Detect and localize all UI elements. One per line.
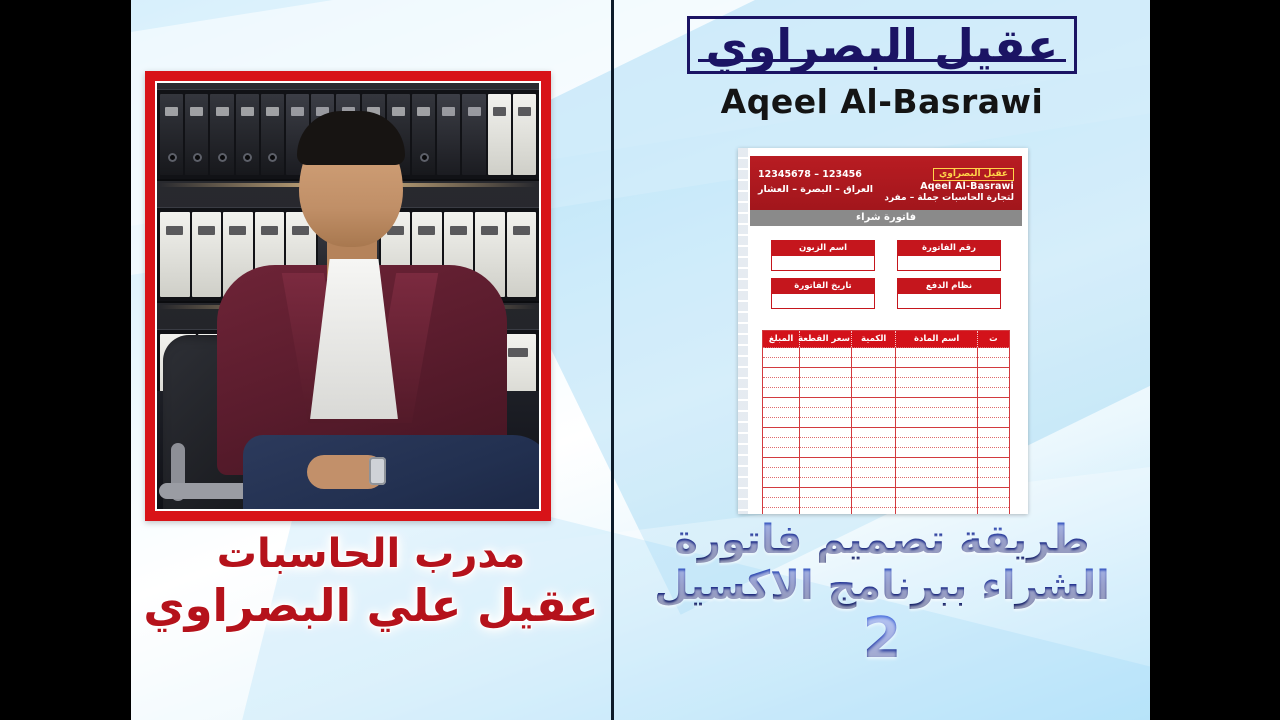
video-title: طريقة تصميم فاتورة الشراء ببرنامج الاكسي… <box>614 518 1150 667</box>
invoice-table-cell[interactable] <box>851 428 895 438</box>
invoice-table-cell[interactable] <box>977 478 1009 488</box>
invoice-number-label: رقم الفاتورة <box>897 240 1001 256</box>
letterbox-left <box>0 0 131 720</box>
invoice-title-bar: فاتورة شراء <box>750 210 1022 226</box>
invoice-table-cell[interactable] <box>977 418 1009 428</box>
invoice-table-cell[interactable] <box>977 358 1009 368</box>
invoice-table-cell[interactable] <box>800 388 852 398</box>
invoice-table-cell[interactable] <box>800 408 852 418</box>
invoice-table-cell[interactable] <box>763 408 800 418</box>
invoice-table-cell[interactable] <box>763 378 800 388</box>
invoice-table-cell[interactable] <box>800 488 852 498</box>
invoice-table-cell[interactable] <box>896 388 978 398</box>
invoice-table-cell[interactable] <box>977 348 1009 358</box>
presenter-photo-frame <box>145 71 551 521</box>
invoice-table-cell[interactable] <box>977 468 1009 478</box>
invoice-table-cell[interactable] <box>763 508 800 514</box>
invoice-table-row <box>763 498 1010 508</box>
invoice-table-cell[interactable] <box>763 488 800 498</box>
customer-name-label: اسم الزبون <box>771 240 875 256</box>
invoice-table-cell[interactable] <box>896 398 978 408</box>
invoice-table-body <box>763 348 1010 514</box>
invoice-table-cell[interactable] <box>896 428 978 438</box>
invoice-table-row <box>763 388 1010 398</box>
invoice-table-cell[interactable] <box>851 488 895 498</box>
invoice-table-cell[interactable] <box>800 458 852 468</box>
invoice-table-cell[interactable] <box>800 468 852 478</box>
col-header-index: ت <box>977 331 1009 348</box>
invoice-brand: عقيل البصراوي Aqeel Al-Basrawi لتجارة ال… <box>884 161 1014 204</box>
wristwatch <box>369 457 386 485</box>
invoice-meta-fields: رقم الفاتورة نظام الدفع اسم الزبون <box>750 240 1022 316</box>
invoice-table-cell[interactable] <box>763 348 800 358</box>
invoice-table-row <box>763 488 1010 498</box>
invoice-table-cell[interactable] <box>851 358 895 368</box>
invoice-table-cell[interactable] <box>977 408 1009 418</box>
invoice-table-row <box>763 418 1010 428</box>
invoice-contact: 12345678 – 123456 العراق – البصرة – العش… <box>758 168 873 197</box>
invoice-table-cell[interactable] <box>896 458 978 468</box>
invoice-table-row <box>763 468 1010 478</box>
invoice-table-row <box>763 508 1010 514</box>
invoice-table-cell[interactable] <box>800 428 852 438</box>
invoice-table-cell[interactable] <box>763 468 800 478</box>
invoice-meta-column-left: رقم الفاتورة نظام الدفع <box>897 240 1001 316</box>
payment-method-label: نظام الدفع <box>897 278 1001 294</box>
invoice-table-cell[interactable] <box>896 498 978 508</box>
invoice-table-cell[interactable] <box>851 468 895 478</box>
presenter-caption: مدرب الحاسبات عقيل علي البصراوي <box>131 532 611 631</box>
logo-underline <box>698 59 1067 62</box>
invoice-date-input[interactable] <box>771 294 875 309</box>
invoice-table-cell[interactable] <box>800 498 852 508</box>
invoice-table-cell[interactable] <box>896 438 978 448</box>
invoice-date-label: تاريخ الفاتورة <box>771 278 875 294</box>
invoice-table-cell[interactable] <box>977 448 1009 458</box>
invoice-table-row <box>763 368 1010 378</box>
invoice-table-row <box>763 408 1010 418</box>
invoice-table-cell[interactable] <box>977 508 1009 514</box>
invoice-header: عقيل البصراوي Aqeel Al-Basrawi لتجارة ال… <box>750 156 1022 210</box>
invoice-table-cell[interactable] <box>977 428 1009 438</box>
presenter-photo <box>155 81 541 511</box>
invoice-table-cell[interactable] <box>851 368 895 378</box>
invoice-table-cell[interactable] <box>896 358 978 368</box>
invoice-phone: 12345678 – 123456 <box>758 168 873 182</box>
slide-canvas: مدرب الحاسبات عقيل علي البصراوي عقيل الب… <box>131 0 1150 720</box>
invoice-table-cell[interactable] <box>977 378 1009 388</box>
invoice-brand-latin: Aqeel Al-Basrawi <box>884 181 1014 193</box>
invoice-table-cell[interactable] <box>800 448 852 458</box>
invoice-table-cell[interactable] <box>851 408 895 418</box>
invoice-table-cell[interactable] <box>763 438 800 448</box>
invoice-brand-subtitle: لتجارة الحاسبات جملة – مفرد <box>884 193 1014 204</box>
invoice-table-cell[interactable] <box>851 388 895 398</box>
invoice-table-cell[interactable] <box>763 428 800 438</box>
invoice-table-cell[interactable] <box>896 368 978 378</box>
invoice-table-cell[interactable] <box>763 368 800 378</box>
invoice-table-cell[interactable] <box>763 448 800 458</box>
presenter-name: عقيل علي البصراوي <box>131 581 611 631</box>
logo-arabic-text: عقيل البصراوي <box>706 23 1059 69</box>
invoice-table-cell[interactable] <box>763 358 800 368</box>
logo-latin-text: Aqeel Al-Basrawi <box>614 82 1150 121</box>
invoice-table-cell[interactable] <box>896 418 978 428</box>
invoice-table-cell[interactable] <box>800 418 852 428</box>
left-panel: مدرب الحاسبات عقيل علي البصراوي <box>131 0 611 720</box>
invoice-table-cell[interactable] <box>977 368 1009 378</box>
person-legs <box>243 435 541 511</box>
invoice-table-cell[interactable] <box>851 508 895 514</box>
invoice-items-table: ت اسم المادة الكمية سعر القطعة المبلغ <box>762 330 1010 514</box>
col-header-amount: المبلغ <box>763 331 800 348</box>
video-frame: مدرب الحاسبات عقيل علي البصراوي عقيل الب… <box>0 0 1280 720</box>
invoice-table-cell[interactable] <box>800 398 852 408</box>
invoice-date-field: تاريخ الفاتورة <box>771 278 875 309</box>
invoice-table-cell[interactable] <box>851 498 895 508</box>
invoice-table-cell[interactable] <box>851 458 895 468</box>
logo-arabic-mark: عقيل البصراوي <box>687 16 1078 74</box>
col-header-quantity: الكمية <box>851 331 895 348</box>
invoice-table-cell[interactable] <box>851 448 895 458</box>
invoice-table-cell[interactable] <box>977 498 1009 508</box>
invoice-table-row <box>763 358 1010 368</box>
invoice-table-cell[interactable] <box>851 378 895 388</box>
invoice-table-cell[interactable] <box>851 478 895 488</box>
invoice-address: العراق – البصرة – العشار <box>758 183 873 197</box>
invoice-table-cell[interactable] <box>851 438 895 448</box>
invoice-table-cell[interactable] <box>763 498 800 508</box>
invoice-table-cell[interactable] <box>800 478 852 488</box>
invoice-table-cell[interactable] <box>896 508 978 514</box>
invoice-table-row <box>763 428 1010 438</box>
panel-divider <box>611 0 614 720</box>
invoice-table-row <box>763 438 1010 448</box>
invoice-meta-column-right: اسم الزبون تاريخ الفاتورة <box>771 240 875 316</box>
invoice-table-row <box>763 448 1010 458</box>
invoice-table-cell[interactable] <box>851 418 895 428</box>
invoice-table-cell[interactable] <box>800 358 852 368</box>
invoice-table-cell[interactable] <box>977 438 1009 448</box>
invoice-table-cell[interactable] <box>763 398 800 408</box>
invoice-number-input[interactable] <box>897 256 1001 271</box>
invoice-table-cell[interactable] <box>896 468 978 478</box>
excel-invoice-sheet: عقيل البصراوي Aqeel Al-Basrawi لتجارة ال… <box>738 148 1028 514</box>
right-panel: عقيل البصراوي Aqeel Al-Basrawi عقيل البص… <box>614 0 1150 720</box>
invoice-brand-arabic-logo: عقيل البصراوي <box>933 168 1014 181</box>
invoice-table-cell[interactable] <box>977 488 1009 498</box>
customer-name-field: اسم الزبون <box>771 240 875 271</box>
invoice-table-cell[interactable] <box>800 348 852 358</box>
invoice-table-row <box>763 348 1010 358</box>
invoice-table-row <box>763 378 1010 388</box>
invoice-table-cell[interactable] <box>896 348 978 358</box>
invoice-table-cell[interactable] <box>763 458 800 468</box>
invoice-table-row <box>763 458 1010 468</box>
invoice-table-cell[interactable] <box>800 368 852 378</box>
invoice-table-cell[interactable] <box>800 378 852 388</box>
invoice-table-cell[interactable] <box>763 478 800 488</box>
payment-method-input[interactable] <box>897 294 1001 309</box>
col-header-unit-price: سعر القطعة <box>800 331 852 348</box>
title-line-1: طريقة تصميم فاتورة <box>614 518 1150 564</box>
invoice-table-header-row: ت اسم المادة الكمية سعر القطعة المبلغ <box>763 331 1010 348</box>
col-header-item-name: اسم المادة <box>896 331 978 348</box>
invoice-number-field: رقم الفاتورة <box>897 240 1001 271</box>
payment-method-field: نظام الدفع <box>897 278 1001 309</box>
customer-name-input[interactable] <box>771 256 875 271</box>
presenter-role: مدرب الحاسبات <box>131 532 611 577</box>
invoice-table-cell[interactable] <box>896 378 978 388</box>
title-line-2: الشراء ببرنامج الاكسيل <box>614 564 1150 610</box>
episode-number: 2 <box>614 611 1150 667</box>
invoice-table-cell[interactable] <box>977 398 1009 408</box>
invoice-table-cell[interactable] <box>851 398 895 408</box>
invoice-table-cell[interactable] <box>896 408 978 418</box>
invoice-table-cell[interactable] <box>851 348 895 358</box>
invoice-table-cell[interactable] <box>896 478 978 488</box>
invoice-table-cell[interactable] <box>896 488 978 498</box>
letterbox-right <box>1150 0 1280 720</box>
invoice-table-cell[interactable] <box>977 388 1009 398</box>
invoice-table-cell[interactable] <box>977 458 1009 468</box>
excel-row-gutter <box>738 148 748 514</box>
invoice-table-cell[interactable] <box>896 448 978 458</box>
invoice-table-cell[interactable] <box>800 508 852 514</box>
invoice-table-cell[interactable] <box>800 438 852 448</box>
invoice-table-row <box>763 478 1010 488</box>
invoice-table-cell[interactable] <box>763 418 800 428</box>
channel-logo: عقيل البصراوي Aqeel Al-Basrawi <box>614 16 1150 121</box>
invoice-table-cell[interactable] <box>763 388 800 398</box>
invoice-table-row <box>763 398 1010 408</box>
